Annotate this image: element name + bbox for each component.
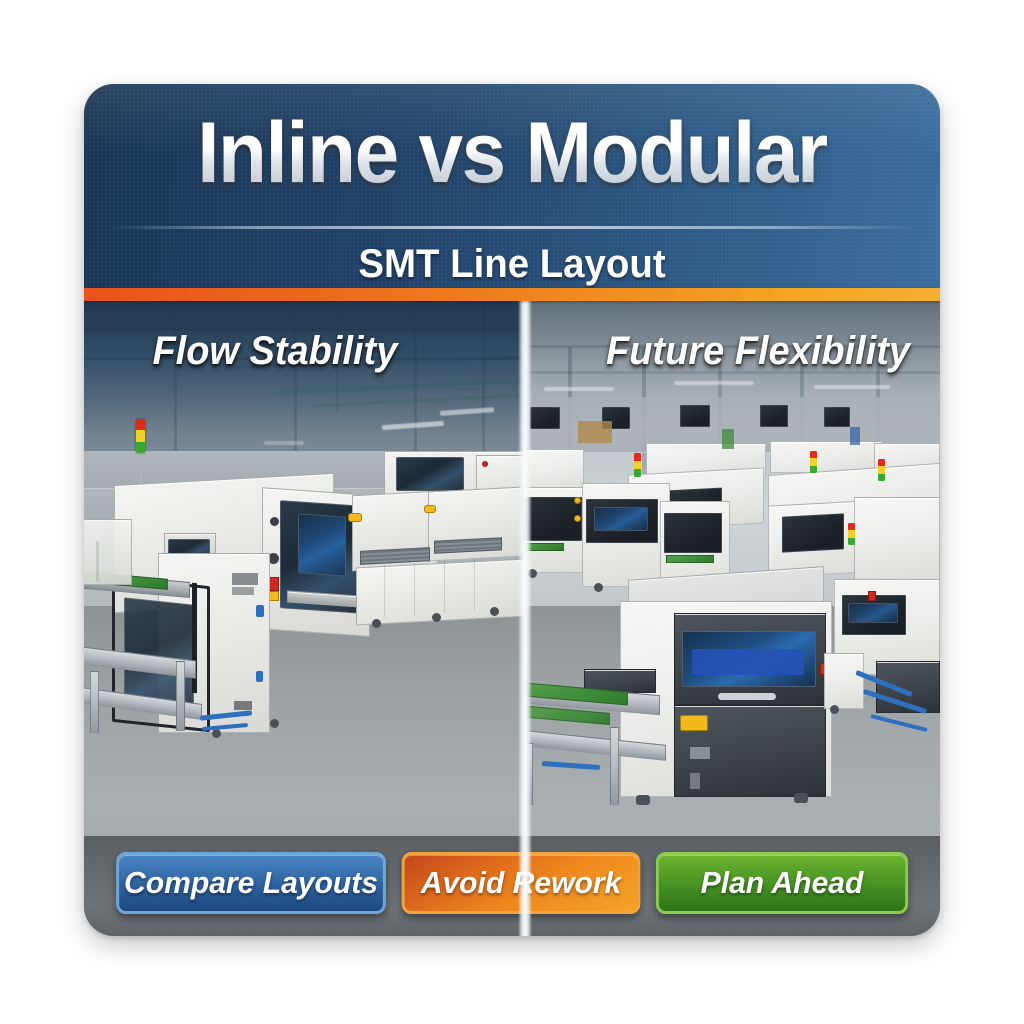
stack-light-indicator — [136, 419, 145, 453]
infographic-card: Inline vs Modular SMT Line Layout — [84, 84, 940, 936]
cabinet-label-plate — [232, 573, 258, 585]
cabinet-badge — [234, 701, 252, 710]
stack-light-green — [634, 469, 641, 477]
stack-light-red — [848, 523, 855, 530]
ceiling-light — [674, 381, 754, 385]
machine-island — [854, 497, 940, 581]
cabinet-label-plate — [232, 587, 254, 595]
stack-light-green — [848, 538, 855, 545]
tunnel-handle — [424, 505, 436, 513]
stack-light-indicator — [810, 451, 817, 473]
machine-foot — [794, 793, 808, 803]
station-screen — [664, 513, 722, 553]
machine-caster — [490, 607, 499, 616]
wall-monitor — [680, 405, 710, 427]
printer-label — [680, 715, 708, 731]
auxiliary-unit — [824, 653, 864, 709]
conveyor-leg — [176, 661, 185, 731]
title-separator-line — [108, 226, 916, 229]
ceiling-column — [294, 301, 297, 451]
stack-light-yellow — [136, 430, 145, 441]
printer-badge — [690, 747, 710, 759]
printer-stencil — [692, 649, 804, 675]
stack-light-yellow — [848, 530, 855, 537]
conveyor-leg — [610, 727, 619, 805]
tunnel-handle — [348, 513, 362, 522]
ceiling-light — [814, 385, 890, 389]
cabinet-seam — [384, 565, 385, 617]
ceiling-light — [544, 387, 614, 391]
wall-monitor — [530, 407, 560, 429]
cabinet-port — [256, 605, 264, 617]
stack-light-yellow — [810, 458, 817, 465]
cabinet-port — [256, 671, 263, 682]
workbench — [524, 449, 584, 491]
machine-caster — [270, 719, 279, 728]
wall-monitor — [824, 407, 850, 427]
side-machine-glow — [848, 603, 898, 623]
machine-foot — [636, 795, 650, 805]
stack-light-red — [136, 419, 145, 430]
machine-screen — [782, 513, 844, 552]
far-machine-window — [396, 457, 464, 491]
machine-caster — [432, 613, 441, 622]
machine-caster — [830, 705, 839, 714]
cabinet-seam — [444, 561, 445, 613]
stack-light-green — [878, 474, 885, 481]
side-cabinet — [84, 519, 132, 585]
avoid-rework-button[interactable]: Avoid Rework — [402, 852, 641, 914]
ceiling-column — [174, 301, 177, 451]
indicator-light — [868, 591, 876, 601]
cabinet-seam — [474, 559, 475, 611]
cabinet-seam — [414, 563, 415, 615]
page-subtitle: SMT Line Layout — [101, 242, 923, 287]
machine-caster — [372, 619, 381, 628]
stack-light-indicator — [634, 453, 641, 477]
stack-light-green — [136, 442, 145, 453]
stack-light-yellow — [634, 461, 641, 469]
stack-light-green — [810, 466, 817, 473]
stack-light-indicator — [848, 523, 855, 545]
page-title: Inline vs Modular — [114, 110, 910, 196]
bench-item — [722, 429, 734, 449]
indicator-light — [574, 515, 581, 522]
footer-button-bar: Compare Layouts Avoid Rework Plan Ahead — [84, 836, 940, 936]
cell-interior-glow — [594, 507, 648, 531]
conveyor-leg — [524, 743, 533, 805]
cabinet-seam — [96, 541, 99, 581]
conveyor-leg — [90, 671, 99, 733]
machine-caster — [212, 729, 221, 738]
ceiling-column — [414, 301, 417, 461]
bench-item — [850, 427, 860, 445]
oven-control-knob — [270, 517, 279, 526]
printer-badge — [690, 773, 700, 789]
stack-light-red — [878, 459, 885, 466]
oven-interior-glow — [298, 513, 346, 576]
panel-label-future-flexibility: Future Flexibility — [606, 329, 910, 374]
printer-handle — [718, 693, 776, 700]
ceiling-column — [482, 301, 485, 476]
plan-ahead-button[interactable]: Plan Ahead — [656, 852, 908, 914]
stack-light-indicator — [878, 459, 885, 481]
machine-caster — [594, 583, 603, 592]
stack-light-red — [810, 451, 817, 458]
pcb-board — [524, 543, 564, 551]
machine-caster — [528, 569, 537, 578]
compare-layouts-button[interactable]: Compare Layouts — [116, 852, 386, 914]
cardboard-stack — [578, 421, 612, 443]
stack-light-yellow — [878, 466, 885, 473]
stack-light-red — [634, 453, 641, 461]
header-banner: Inline vs Modular SMT Line Layout — [84, 84, 940, 288]
indicator-light — [482, 461, 488, 467]
indicator-light — [574, 497, 581, 504]
panel-label-flow-stability: Flow Stability — [152, 329, 397, 374]
ceiling-light — [264, 441, 304, 445]
wall-monitor — [760, 405, 788, 427]
accent-divider-bar — [84, 288, 940, 301]
pcb-board — [666, 555, 714, 563]
